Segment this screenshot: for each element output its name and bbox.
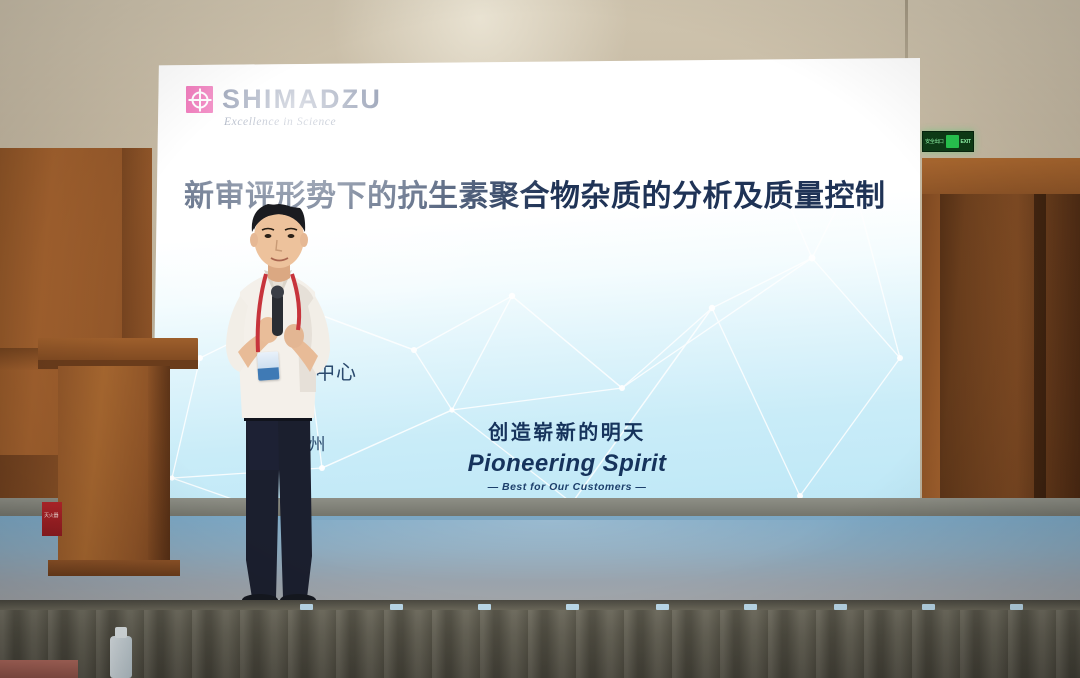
drape-top-edge <box>0 600 1080 610</box>
drape-clip <box>478 604 491 610</box>
water-bottle <box>110 636 132 678</box>
foreground-table <box>0 660 78 678</box>
name-badge-stripe <box>258 367 280 380</box>
drape-clip <box>390 604 403 610</box>
microphone <box>272 292 283 336</box>
drape-folds <box>0 604 1080 678</box>
drape-clip <box>1010 604 1023 610</box>
drape-clip <box>834 604 847 610</box>
speaker-figure <box>0 0 1080 678</box>
drape-clip <box>656 604 669 610</box>
presentation-photo-scene: 安全出口 EXIT <box>0 0 1080 678</box>
speaker-eye-right <box>288 234 295 238</box>
speaker-eye-left <box>265 234 272 238</box>
drape-clip <box>922 604 935 610</box>
drape-clip <box>744 604 757 610</box>
speaker-hand-right <box>284 324 304 348</box>
drape-clip <box>300 604 313 610</box>
drape-clip <box>566 604 579 610</box>
